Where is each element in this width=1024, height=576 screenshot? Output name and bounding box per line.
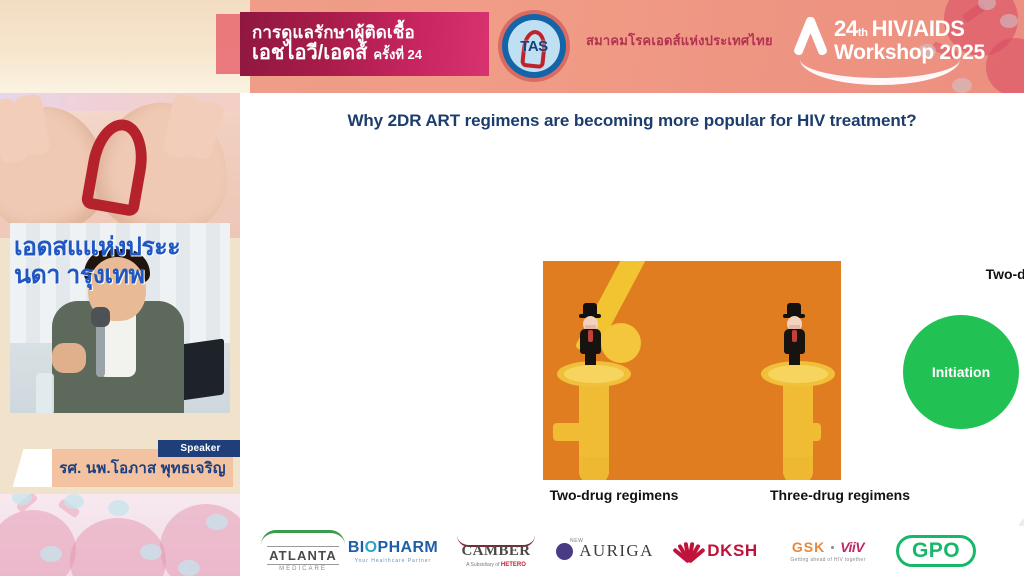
workshop-ordinal: th — [858, 27, 868, 39]
video-overlay-line2: นดา ารุงเทพ — [14, 255, 145, 295]
conference-title-banner: การดูแลรักษาผู้ติดเชื้อ เอชไอวี/เอดส์ คร… — [240, 12, 489, 76]
conference-title-line1: การดูแลรักษาผู้ติดเชื้อ — [252, 23, 477, 43]
dksh-fan-icon — [678, 540, 700, 562]
workshop-number: 24 — [834, 16, 858, 42]
sponsor-logo-gpo: GPO — [876, 526, 996, 576]
conference-header: การดูแลรักษาผู้ติดเชื้อ เอชไอวี/เอดส์ คร… — [0, 0, 1024, 93]
slide-screenshot: การดูแลรักษาผู้ติดเชื้อ เอชไอวี/เอดส์ คร… — [0, 0, 1024, 576]
slide-title: Why 2DR ART regimens are becoming more p… — [240, 111, 1024, 131]
illustration-ball — [601, 323, 641, 363]
pedestal-three-drug — [761, 361, 835, 480]
workshop-logo: 24 th HIV/AIDS Workshop 2025 — [792, 10, 972, 82]
speaker-name: รศ. นพ.โอภาส พุทธเจริญ — [59, 456, 226, 480]
speaker-badge: Speaker — [158, 440, 243, 457]
presentation-slide: Why 2DR ART regimens are becoming more p… — [240, 93, 1024, 526]
virus-pattern-strip — [0, 494, 240, 576]
hands-ribbon-image — [0, 93, 240, 238]
diagram-node-initiation: Initiation — [903, 315, 1019, 429]
pedestal-two-drug — [557, 361, 631, 480]
auriga-dot-icon — [556, 543, 573, 560]
left-sidebar-panel: เอดสแแห่งประะ นดา ารุงเทพ รศ. นพ.โอภาส พ… — [0, 93, 240, 494]
sponsor-logo-bar: ATLANTA MEDICARE BIOPHARM Your Healthcar… — [240, 526, 1024, 576]
ribbon-swoosh — [800, 54, 960, 85]
figure-two-drug — [575, 303, 605, 365]
speaker-video-feed[interactable]: เอดสแแห่งประะ นดา ารุงเทพ — [10, 223, 230, 413]
sponsor-logo-gsk-viiv: GSK ViiV Getting ahead of HIV together — [768, 526, 888, 576]
label-two-drug-regimens: Two-drug regimens — [524, 487, 704, 503]
sponsor-logo-dksh: DKSH — [658, 526, 778, 576]
water-bottle — [36, 373, 54, 413]
tas-logo-text: TAS — [520, 38, 547, 55]
header-left-wash — [0, 0, 250, 93]
workshop-line1: HIV/AIDS — [872, 16, 965, 42]
diagram-heading: Two-drug regimens — [900, 266, 1024, 282]
conference-title-edition: ครั้งที่ 24 — [373, 48, 422, 63]
tas-logo: TAS — [498, 10, 570, 82]
speaker-nameplate: รศ. นพ.โอภาส พุทธเจริญ Speaker — [18, 445, 233, 491]
separator-dot — [831, 546, 834, 549]
regimen-illustration — [543, 261, 841, 480]
association-name-thai: สมาคมโรคเอดส์แห่งประเทศไทย — [586, 30, 773, 51]
label-three-drug-regimens: Three-drug regimens — [740, 487, 940, 503]
virus-knob — [1000, 14, 1018, 28]
conference-title-line2: เอชไอวี/เอดส์ — [252, 42, 367, 65]
sponsor-logo-camber: CAMBER A Subsidiary of HETERO — [436, 526, 556, 576]
sponsor-logo-auriga: NEW AURIGA — [540, 526, 670, 576]
figure-three-drug — [779, 303, 809, 365]
